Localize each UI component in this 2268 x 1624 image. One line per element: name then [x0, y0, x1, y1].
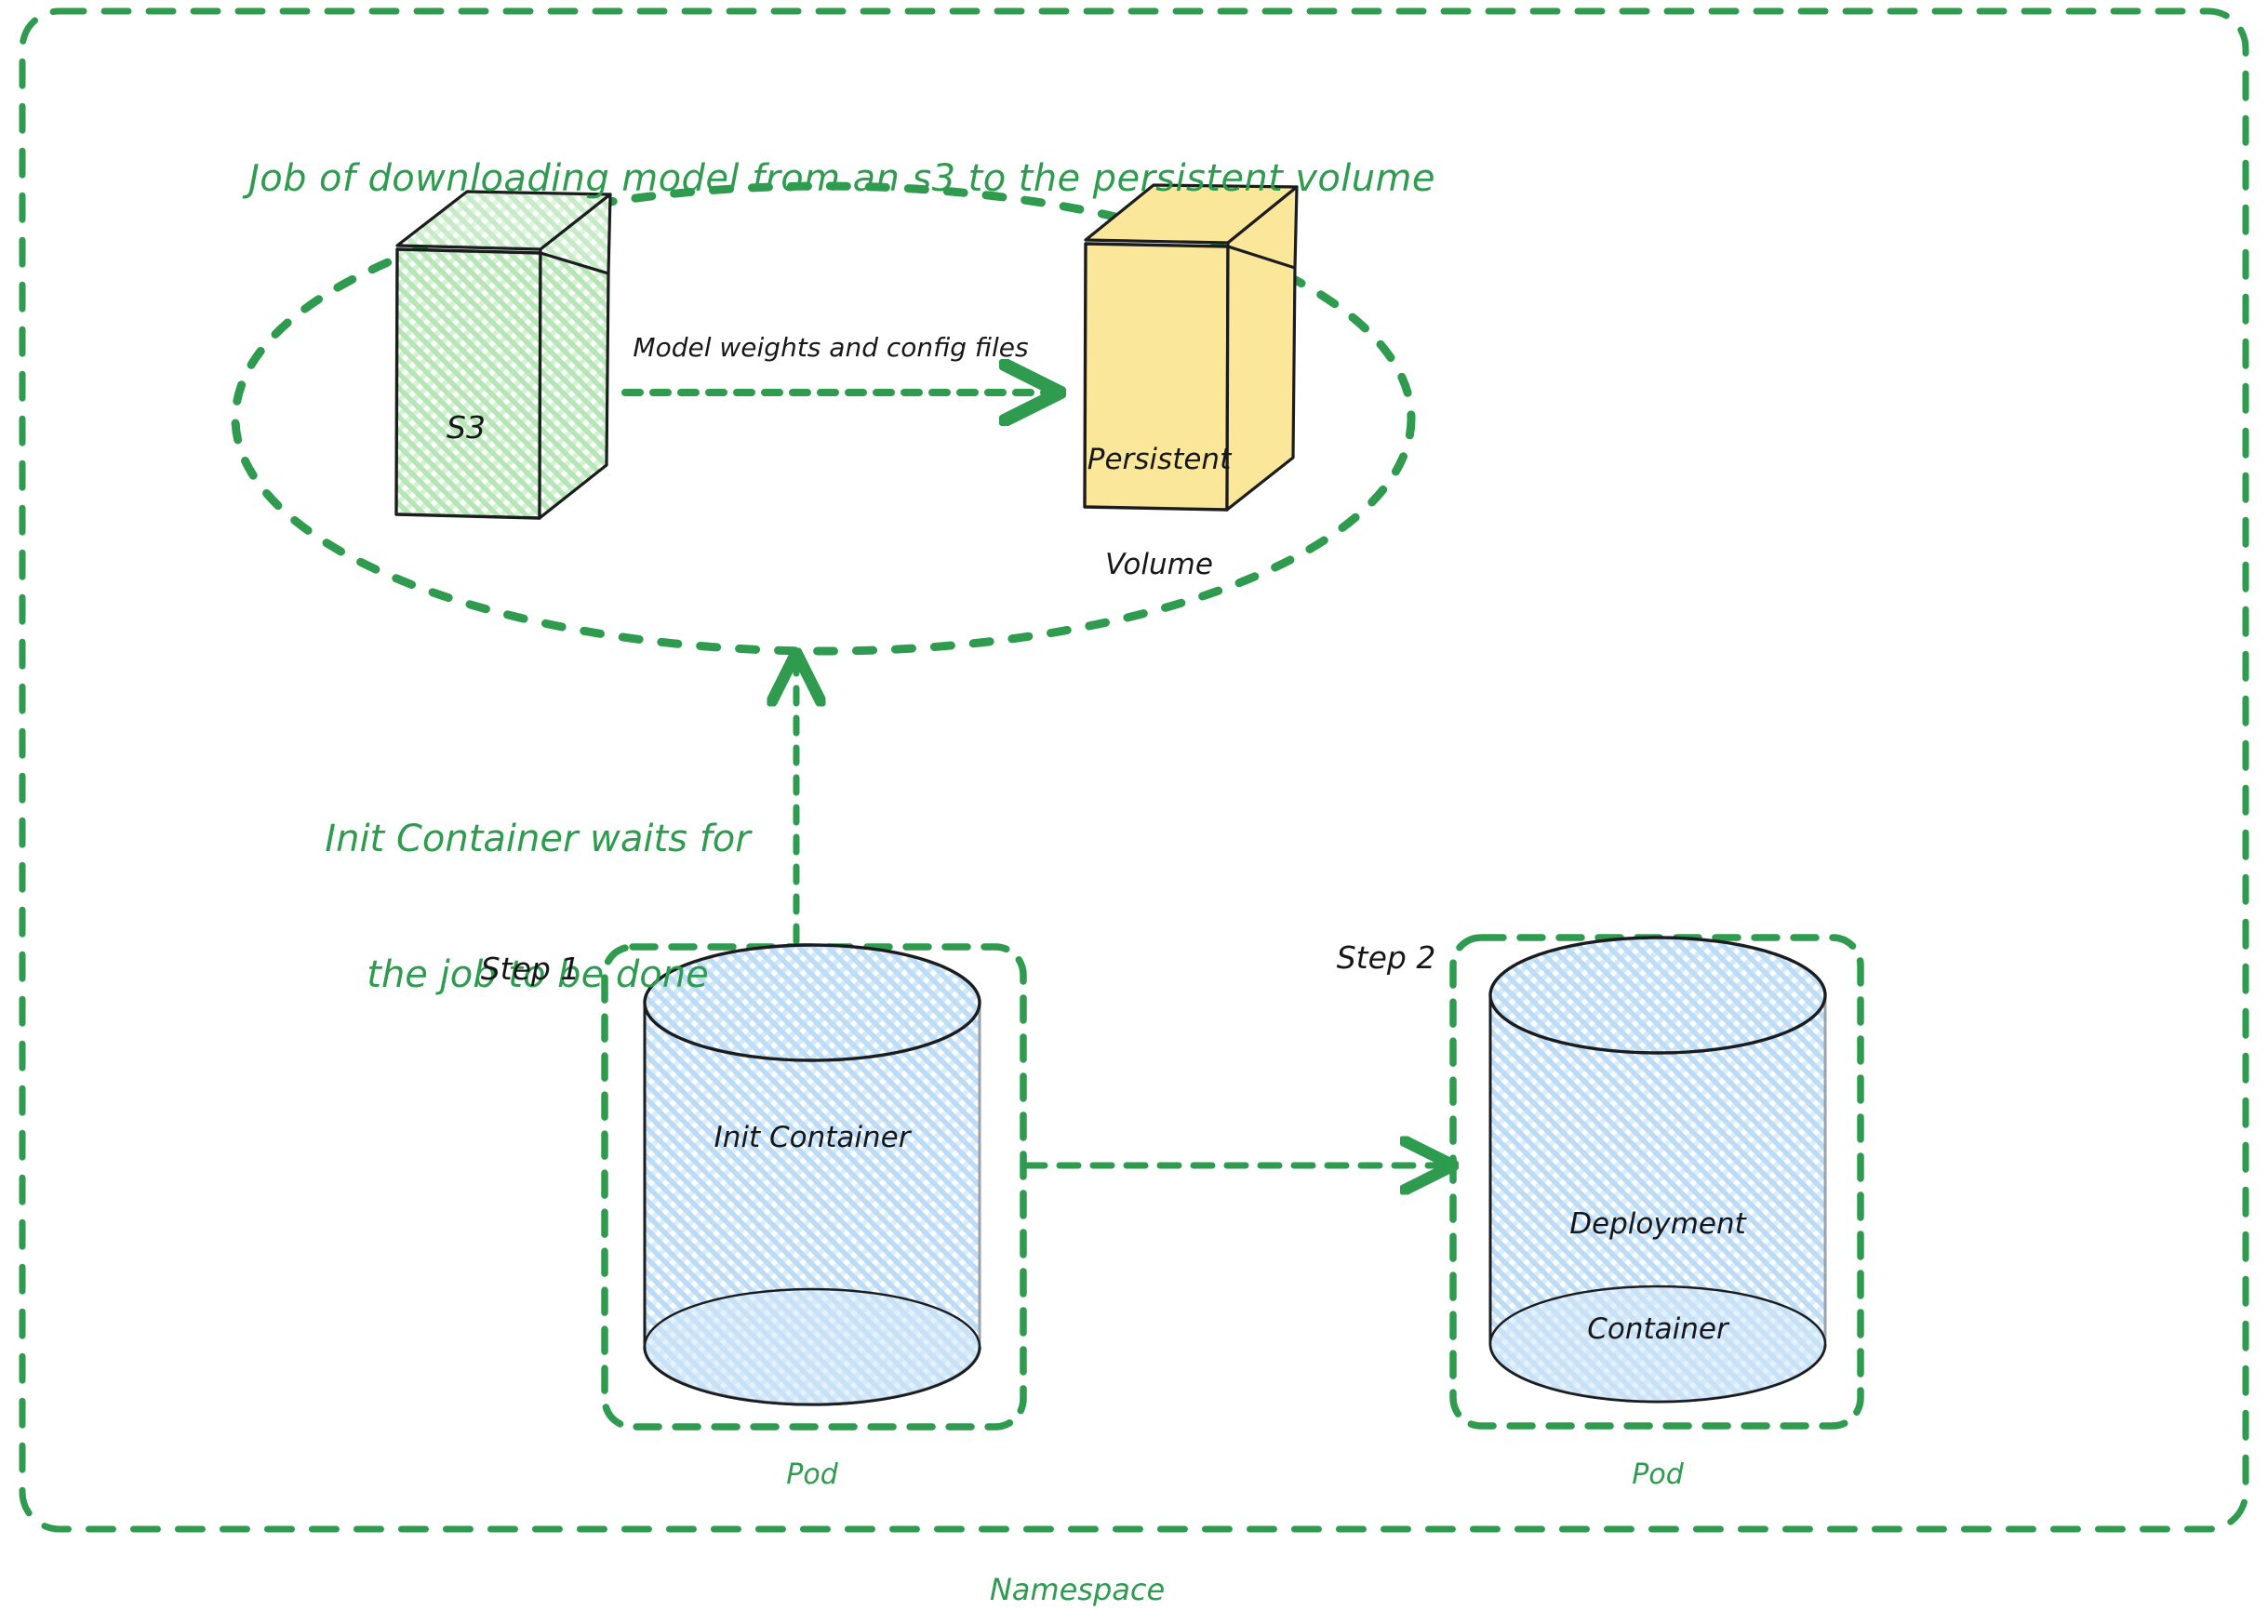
persistent-volume-label-line1: Persistent: [1087, 443, 1231, 478]
s3-label: S3: [447, 409, 486, 446]
job-title-label: Job of downloading model from an s3 to t…: [248, 156, 1435, 202]
step-1-label: Step 1: [481, 951, 580, 988]
persistent-volume-label-line2: Volume: [1087, 548, 1231, 583]
namespace-label: Namespace: [990, 1572, 1165, 1608]
persistent-volume-label: Persistent Volume: [1087, 372, 1231, 654]
s3-cube: [396, 192, 610, 518]
deployment-container-label: Deployment Container: [1569, 1137, 1746, 1418]
init-container-wait-note: Init Container waits for the job to be d…: [325, 725, 750, 1088]
step-2-label: Step 2: [1337, 939, 1436, 977]
init-container-label: Init Container: [714, 1121, 911, 1156]
init-container-wait-note-line1: Init Container waits for: [325, 817, 750, 862]
deployment-container-label-line1: Deployment: [1569, 1207, 1746, 1243]
edge-label-model-weights: Model weights and config files: [633, 332, 1028, 364]
deployment-container-label-line2: Container: [1569, 1312, 1746, 1348]
diagram-canvas: Job of downloading model from an s3 to t…: [0, 0, 2268, 1624]
pod-1-label: Pod: [786, 1458, 838, 1493]
pod-2-label: Pod: [1632, 1458, 1684, 1493]
